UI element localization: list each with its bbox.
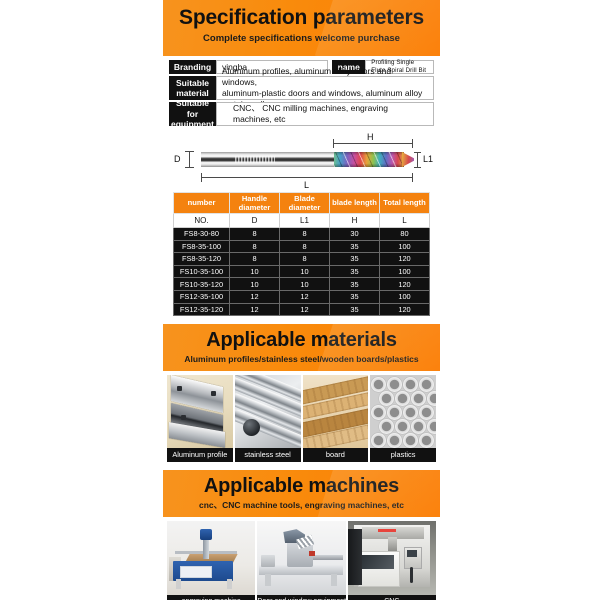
suitable-equipment-label-line1: Suitable for bbox=[172, 98, 213, 119]
table-cell: FS8-35-100 bbox=[174, 240, 230, 253]
l-dimension-line bbox=[201, 177, 413, 178]
aluminum-profile-photo bbox=[167, 375, 233, 448]
content-sheet: Specification parameters Complete specif… bbox=[163, 0, 440, 600]
material-caption: plastics bbox=[370, 448, 436, 462]
table-cell: 35 bbox=[330, 240, 380, 253]
drill-bit-shank bbox=[201, 152, 336, 167]
machine-card-door-window-equipment: Door and window equipment bbox=[257, 521, 345, 600]
l-dimension-label: L bbox=[304, 180, 309, 190]
door-window-equipment-photo bbox=[257, 521, 345, 595]
table-symbol-cell: L bbox=[380, 214, 430, 228]
table-header-row: number Handle diameter Blade diameter bl… bbox=[174, 193, 430, 214]
table-cell: 12 bbox=[230, 303, 280, 316]
wooden-board-photo bbox=[303, 375, 369, 448]
table-cell: 100 bbox=[380, 265, 430, 278]
table-cell: 30 bbox=[330, 228, 380, 241]
table-cell: 10 bbox=[280, 278, 330, 291]
suitable-material-value: Aluminum profiles, aluminum alloy doors … bbox=[216, 76, 434, 100]
table-header-cell: Handle diameter bbox=[230, 193, 280, 214]
table-cell: 35 bbox=[330, 265, 380, 278]
d-dimension-tick-top bbox=[185, 151, 194, 152]
specification-title: Specification parameters bbox=[163, 4, 440, 32]
table-header-cell: Total length bbox=[380, 193, 430, 214]
table-row: FS12-35-120 12 12 35 120 bbox=[174, 303, 430, 316]
table-symbol-cell: H bbox=[330, 214, 380, 228]
table-cell: 8 bbox=[280, 253, 330, 266]
drill-bit-coated-flute bbox=[334, 152, 404, 167]
table-cell: 8 bbox=[280, 240, 330, 253]
drill-bit-illustration bbox=[201, 152, 413, 167]
table-cell: 12 bbox=[280, 303, 330, 316]
table-header-cell: Blade diameter bbox=[280, 193, 330, 214]
l1-dimension-line bbox=[417, 152, 418, 168]
l1-dimension-tick-top bbox=[414, 152, 421, 153]
specification-subtitle: Complete specifications welcome purchase bbox=[163, 32, 440, 46]
info-row-equipment: Suitable for equipment CNC、 CNC milling … bbox=[169, 102, 434, 126]
materials-photo-grid: Aluminum profile stainless steel bbox=[163, 371, 440, 462]
h-dimension-line bbox=[333, 143, 413, 144]
machine-card-cnc: CNC bbox=[348, 521, 436, 600]
table-cell: 100 bbox=[380, 240, 430, 253]
specification-banner: Specification parameters Complete specif… bbox=[163, 0, 440, 56]
info-table: Branding yingba name Profiling Single Fl… bbox=[163, 56, 440, 126]
table-cell: 120 bbox=[380, 278, 430, 291]
machines-subtitle: cnc、CNC machine tools, engraving machine… bbox=[163, 499, 440, 512]
table-symbol-cell: L1 bbox=[280, 214, 330, 228]
material-card-stainless-steel: stainless steel bbox=[235, 375, 301, 462]
table-cell: 120 bbox=[380, 303, 430, 316]
table-symbol-cell: D bbox=[230, 214, 280, 228]
materials-subtitle: Aluminum profiles/stainless steel/wooden… bbox=[163, 353, 440, 366]
machines-banner: Applicable machines cnc、CNC machine tool… bbox=[163, 470, 440, 517]
table-symbol-cell: NO. bbox=[174, 214, 230, 228]
plastic-pipes-photo bbox=[370, 375, 436, 448]
table-header-cell: number bbox=[174, 193, 230, 214]
table-cell: 8 bbox=[230, 253, 280, 266]
suitable-equipment-label-line2: equipment bbox=[171, 119, 214, 130]
l-dimension-tick-left bbox=[201, 173, 202, 182]
table-cell: 35 bbox=[330, 303, 380, 316]
table-cell: 12 bbox=[230, 290, 280, 303]
table-cell: 35 bbox=[330, 290, 380, 303]
h-dimension-label: H bbox=[367, 132, 374, 142]
cnc-machine-photo bbox=[348, 521, 436, 595]
machines-photo-grid: engraving machine Door and window equipm… bbox=[163, 517, 440, 600]
table-cell: 100 bbox=[380, 290, 430, 303]
table-cell: 10 bbox=[230, 265, 280, 278]
material-card-plastics: plastics bbox=[370, 375, 436, 462]
table-cell: 35 bbox=[330, 253, 380, 266]
suitable-material-label-line2: material bbox=[176, 88, 209, 99]
table-cell: FS8-30-80 bbox=[174, 228, 230, 241]
suitable-equipment-label: Suitable for equipment bbox=[169, 102, 216, 126]
l-dimension-tick-right bbox=[412, 173, 413, 182]
product-spec-page: Specification parameters Complete specif… bbox=[0, 0, 600, 600]
material-caption: stainless steel bbox=[235, 448, 301, 462]
table-cell: 8 bbox=[280, 228, 330, 241]
engraving-machine-photo bbox=[167, 521, 255, 595]
material-card-aluminum-profile: Aluminum profile bbox=[167, 375, 233, 462]
drill-bit-tip bbox=[402, 152, 414, 167]
table-cell: 10 bbox=[230, 278, 280, 291]
table-cell: 10 bbox=[280, 265, 330, 278]
table-cell: FS8-35-120 bbox=[174, 253, 230, 266]
table-cell: FS12-35-100 bbox=[174, 290, 230, 303]
machine-card-engraving-machine: engraving machine bbox=[167, 521, 255, 600]
table-cell: FS12-35-120 bbox=[174, 303, 230, 316]
stainless-steel-photo bbox=[235, 375, 301, 448]
table-row: FS12-35-100 12 12 35 100 bbox=[174, 290, 430, 303]
table-row: FS10-35-120 10 10 35 120 bbox=[174, 278, 430, 291]
machine-caption: Door and window equipment bbox=[257, 595, 345, 600]
machines-title: Applicable machines bbox=[163, 473, 440, 499]
table-cell: 8 bbox=[230, 240, 280, 253]
suitable-material-label-line1: Suitable bbox=[176, 78, 209, 89]
suitable-equipment-value: CNC、 CNC milling machines, engraving mac… bbox=[216, 102, 434, 126]
suitable-material-value-line1: Aluminum profiles, aluminum alloy doors … bbox=[222, 66, 428, 88]
machine-caption: CNC bbox=[348, 595, 436, 600]
materials-banner: Applicable materials Aluminum profiles/s… bbox=[163, 324, 440, 371]
suitable-material-label: Suitable material bbox=[169, 76, 216, 100]
material-card-board: board bbox=[303, 375, 369, 462]
table-cell: 8 bbox=[230, 228, 280, 241]
branding-label: Branding bbox=[169, 60, 216, 74]
l1-dimension-label: L1 bbox=[423, 154, 433, 164]
table-cell: 80 bbox=[380, 228, 430, 241]
table-row: FS8-35-100 8 8 35 100 bbox=[174, 240, 430, 253]
machine-caption: engraving machine bbox=[167, 595, 255, 600]
table-cell: FS10-35-120 bbox=[174, 278, 230, 291]
h-dimension-tick-left bbox=[333, 139, 334, 148]
materials-title: Applicable materials bbox=[163, 327, 440, 353]
table-header-cell: blade length bbox=[330, 193, 380, 214]
table-row: FS8-30-80 8 8 30 80 bbox=[174, 228, 430, 241]
table-cell: 12 bbox=[280, 290, 330, 303]
table-row: FS8-35-120 8 8 35 120 bbox=[174, 253, 430, 266]
h-dimension-tick-right bbox=[412, 139, 413, 148]
d-dimension-label: D bbox=[174, 154, 181, 164]
material-caption: board bbox=[303, 448, 369, 462]
d-dimension-line bbox=[189, 151, 190, 168]
d-dimension-tick-bottom bbox=[185, 167, 194, 168]
material-caption: Aluminum profile bbox=[167, 448, 233, 462]
table-cell: 120 bbox=[380, 253, 430, 266]
specification-table: number Handle diameter Blade diameter bl… bbox=[173, 192, 430, 316]
table-cell: FS10-35-100 bbox=[174, 265, 230, 278]
table-symbol-row: NO. D L1 H L bbox=[174, 214, 430, 228]
drill-bit-diagram: H D L1 L bbox=[167, 132, 436, 190]
table-row: FS10-35-100 10 10 35 100 bbox=[174, 265, 430, 278]
info-row-material: Suitable material Aluminum profiles, alu… bbox=[169, 76, 434, 100]
table-cell: 35 bbox=[330, 278, 380, 291]
l1-dimension-tick-bottom bbox=[414, 167, 421, 168]
